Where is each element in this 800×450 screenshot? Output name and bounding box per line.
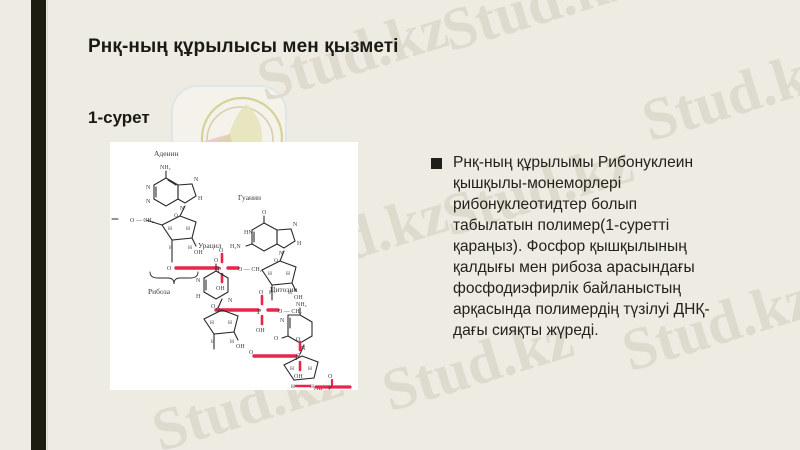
svg-text:H₂N: H₂N xyxy=(230,244,241,250)
page-title: Рнқ-ның құрылысы мен қызметі xyxy=(88,36,399,58)
svg-text:H: H xyxy=(210,320,214,326)
svg-text:N: N xyxy=(280,318,285,324)
square-bullet-icon xyxy=(431,158,442,169)
svg-text:H: H xyxy=(198,196,203,202)
body-paragraph: Рнқ-ның құрылымы Рибонуклеин қышқылы-мон… xyxy=(453,152,721,341)
svg-text:NH₂: NH₂ xyxy=(296,302,307,308)
svg-text:O: O xyxy=(216,307,220,313)
svg-text:O — CH₂: O — CH₂ xyxy=(278,309,302,315)
svg-text:N: N xyxy=(228,298,233,304)
svg-text:H: H xyxy=(186,226,190,232)
svg-text:O — CH₂: O — CH₂ xyxy=(130,218,154,224)
svg-text:NH₂: NH₂ xyxy=(160,165,171,171)
svg-text:O: O xyxy=(262,210,267,216)
svg-text:Рибоза: Рибоза xyxy=(148,287,171,296)
svg-text:OH: OH xyxy=(294,374,303,380)
svg-text:N: N xyxy=(194,177,199,183)
svg-text:N: N xyxy=(146,185,151,191)
svg-text:Аденин: Аденин xyxy=(154,149,179,158)
svg-text:H: H xyxy=(291,384,295,390)
watermark-text: Stud.kz xyxy=(634,33,800,156)
svg-text:H: H xyxy=(188,245,192,251)
svg-text:P: P xyxy=(328,385,332,390)
svg-text:H: H xyxy=(297,241,302,247)
svg-text:Гуанин: Гуанин xyxy=(238,193,261,202)
svg-text:HN: HN xyxy=(244,230,253,236)
svg-text:H: H xyxy=(168,226,172,232)
slide-canvas: Stud.kz Stud.kz Stud.kz Stud.kz Stud.kz … xyxy=(0,0,800,450)
figure-caption-label: 1-сурет xyxy=(88,108,150,128)
left-accent-bar xyxy=(31,0,46,450)
svg-text:H: H xyxy=(228,320,232,326)
svg-text:OH: OH xyxy=(236,344,245,350)
svg-text:N: N xyxy=(293,222,298,228)
svg-text:O: O xyxy=(174,213,178,219)
svg-text:H: H xyxy=(196,294,201,300)
svg-text:O: O xyxy=(167,266,172,272)
svg-text:N: N xyxy=(146,199,151,205)
svg-text:N: N xyxy=(196,278,201,284)
svg-text:O: O xyxy=(296,337,301,343)
svg-text:O: O xyxy=(274,258,278,264)
svg-text:OH: OH xyxy=(194,250,203,256)
svg-text:O — CH₂: O — CH₂ xyxy=(238,267,262,273)
watermark-text: Stud.kz xyxy=(249,0,456,116)
svg-text:H: H xyxy=(230,339,234,345)
rna-structure-figure: Аденин NH₂ N N N H N H H H xyxy=(110,142,358,390)
svg-text:H: H xyxy=(268,271,272,277)
svg-text:OH: OH xyxy=(256,328,265,334)
left-accent-hairline xyxy=(47,0,48,450)
svg-text:OH: OH xyxy=(294,295,303,301)
svg-text:P: P xyxy=(295,353,299,362)
svg-text:H: H xyxy=(308,366,312,372)
svg-text:Урацил: Урацил xyxy=(198,241,222,250)
body-bullet-block: Рнқ-ның құрылымы Рибонуклеин қышқылы-мон… xyxy=(431,152,731,341)
svg-text:P: P xyxy=(257,307,261,316)
svg-text:OH: OH xyxy=(216,286,225,292)
svg-text:O: O xyxy=(274,336,279,342)
svg-text:H: H xyxy=(286,271,290,277)
svg-text:H: H xyxy=(290,366,294,372)
svg-text:O: O xyxy=(214,258,219,264)
svg-text:Цитозин: Цитозин xyxy=(270,285,297,294)
svg-text:O: O xyxy=(259,290,264,296)
watermark-text: Stud.kz xyxy=(434,0,641,66)
